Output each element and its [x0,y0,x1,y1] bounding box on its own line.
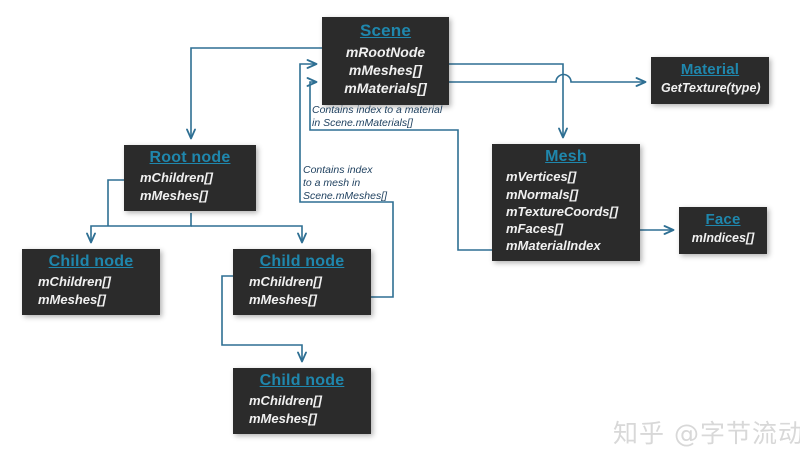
node-face[interactable]: Face mIndices[] [679,207,767,254]
field-mmeshes: mMeshes[] [249,410,361,427]
node-mesh[interactable]: Mesh mVertices[] mNormals[] mTextureCoor… [492,144,640,261]
field-gettexture: GetTexture(type) [661,80,759,97]
node-child-node-3[interactable]: Child node mChildren[] mMeshes[] [233,368,371,434]
node-child-2-title: Child node [243,253,361,271]
field-mchildren: mChildren[] [140,169,246,186]
wire-scene-rootnode [191,48,322,138]
wire-root-child2 [191,226,302,242]
field-mmeshes: mMeshes[] [332,61,439,79]
field-mmeshes: mMeshes[] [38,291,150,308]
node-material-fields: GetTexture(type) [661,80,759,97]
node-material[interactable]: Material GetTexture(type) [651,57,769,104]
node-child-node-1[interactable]: Child node mChildren[] mMeshes[] [22,249,160,315]
node-child-1-title: Child node [32,253,150,271]
annotation-mesh-index: Contains index to a mesh in Scene.mMeshe… [303,164,387,203]
node-child-3-fields: mChildren[] mMeshes[] [243,392,361,426]
node-child-3-title: Child node [243,372,361,390]
wire-root-child1 [91,213,191,242]
field-mnormals: mNormals[] [506,186,630,203]
node-mesh-title: Mesh [502,148,630,166]
node-scene-title: Scene [332,21,439,41]
field-mtexturecoords: mTextureCoords[] [506,203,630,220]
node-scene-fields: mRootNode mMeshes[] mMaterials[] [332,43,439,98]
field-mrootnode: mRootNode [332,43,439,61]
node-scene[interactable]: Scene mRootNode mMeshes[] mMaterials[] [322,17,449,105]
node-root-fields: mChildren[] mMeshes[] [134,169,246,203]
field-mmaterialindex: mMaterialIndex [506,237,630,254]
node-child-node-2[interactable]: Child node mChildren[] mMeshes[] [233,249,371,315]
field-mchildren: mChildren[] [249,273,361,290]
field-mvertices: mVertices[] [506,168,630,185]
node-child-2-fields: mChildren[] mMeshes[] [243,273,361,307]
wire-scene-meshes [449,64,563,137]
field-mindices: mIndices[] [689,230,757,247]
node-child-1-fields: mChildren[] mMeshes[] [32,273,150,307]
node-face-title: Face [689,211,757,228]
field-mchildren: mChildren[] [249,392,361,409]
node-root[interactable]: Root node mChildren[] mMeshes[] [124,145,256,211]
annotation-material-index: Contains index to a material in Scene.mM… [312,104,442,130]
field-mmaterials: mMaterials[] [332,79,439,97]
field-mchildren: mChildren[] [38,273,150,290]
field-mfaces: mFaces[] [506,220,630,237]
wire-root-meshes [108,180,124,226]
node-face-fields: mIndices[] [689,230,757,247]
node-mesh-fields: mVertices[] mNormals[] mTextureCoords[] … [502,168,630,254]
wire-scene-materials [449,75,645,82]
watermark: 知乎 @字节流动 [613,414,800,450]
diagram-canvas: Scene mRootNode mMeshes[] mMaterials[] M… [0,0,800,459]
node-material-title: Material [661,61,759,78]
field-mmeshes: mMeshes[] [249,291,361,308]
node-root-title: Root node [134,149,246,167]
field-mmeshes: mMeshes[] [140,187,246,204]
